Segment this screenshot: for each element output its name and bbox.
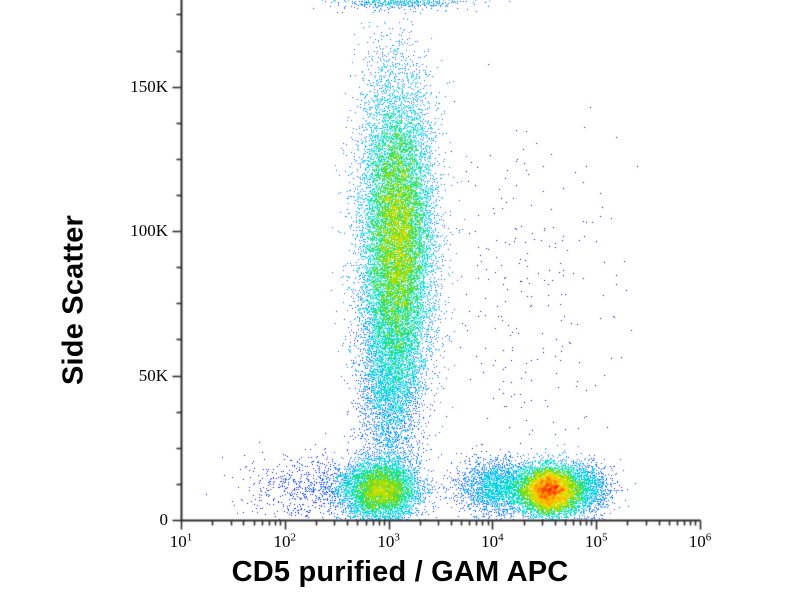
x-axis-title: CD5 purified / GAM APC <box>0 556 800 589</box>
y-tick-label: 50K <box>120 366 168 386</box>
x-tick-label: 101 <box>170 532 193 552</box>
x-tick-label: 102 <box>274 532 297 552</box>
x-tick-label: 103 <box>377 532 400 552</box>
y-tick-label: 150K <box>120 77 168 97</box>
x-tick-label: 106 <box>689 532 712 552</box>
y-tick-label: 0 <box>120 510 168 530</box>
y-axis-title: Side Scatter <box>58 215 91 385</box>
x-tick-label: 104 <box>481 532 504 552</box>
x-tick-label: 105 <box>585 532 608 552</box>
y-tick-label: 100K <box>120 221 168 241</box>
flow-cytometry-plot: Side Scatter CD5 purified / GAM APC 050K… <box>0 0 800 600</box>
